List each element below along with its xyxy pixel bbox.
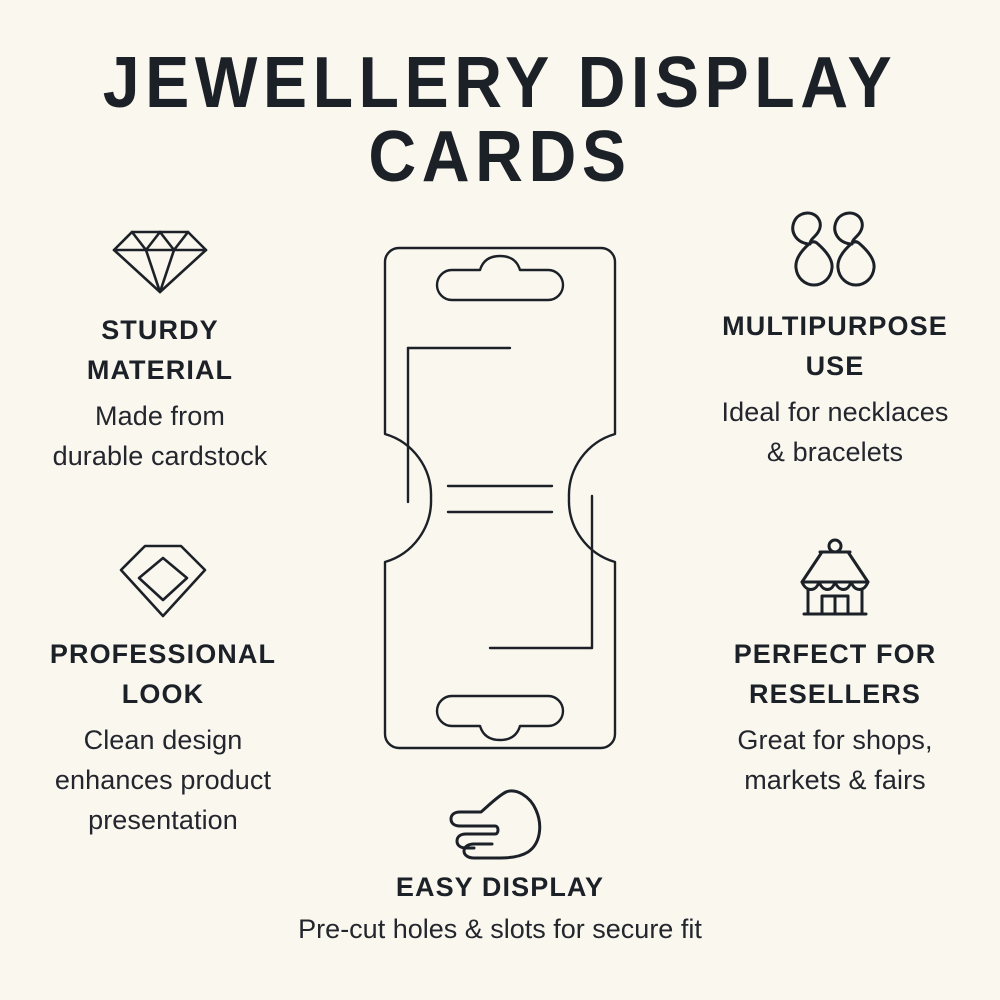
page-title: JEWELLERY DISPLAY CARDS [0, 46, 1000, 194]
rounded-card-outline [385, 248, 615, 748]
page-title-line-1: JEWELLERY DISPLAY [40, 46, 960, 120]
feature-title: PROFESSIONAL LOOK [8, 634, 318, 714]
feature-description: Pre-cut holes & slots for secure fit [250, 910, 750, 948]
feature-title: EASY DISPLAY [250, 870, 750, 904]
top-hang-slot [437, 256, 563, 300]
page-title-line-2: CARDS [40, 120, 960, 194]
infographic-poster: JEWELLERY DISPLAY CARDS STURDY MATERIAL … [0, 0, 1000, 1000]
feature-sturdy-material: STURDY MATERIAL Made from durable cardst… [10, 220, 310, 476]
pointing-hand-left-icon [250, 786, 750, 860]
gem-outline-icon [8, 538, 318, 620]
feature-title: PERFECT FOR RESELLERS [690, 634, 980, 714]
storefront-icon [690, 538, 980, 620]
feature-perfect-for-resellers: PERFECT FOR RESELLERS Great for shops, m… [690, 538, 980, 800]
feature-multipurpose-use: MULTIPURPOSE USE Ideal for necklaces & b… [685, 206, 985, 472]
diamond-faceted-icon [10, 220, 310, 296]
jewellery-display-card-diagram [370, 238, 630, 758]
bottom-hang-slot [437, 696, 563, 740]
feature-easy-display: EASY DISPLAY Pre-cut holes & slots for s… [250, 786, 750, 948]
earrings-pair-icon [685, 206, 985, 292]
feature-description: Made from durable cardstock [10, 396, 310, 476]
feature-title: MULTIPURPOSE USE [685, 306, 985, 386]
feature-title: STURDY MATERIAL [10, 310, 310, 390]
feature-description: Ideal for necklaces & bracelets [685, 392, 985, 472]
